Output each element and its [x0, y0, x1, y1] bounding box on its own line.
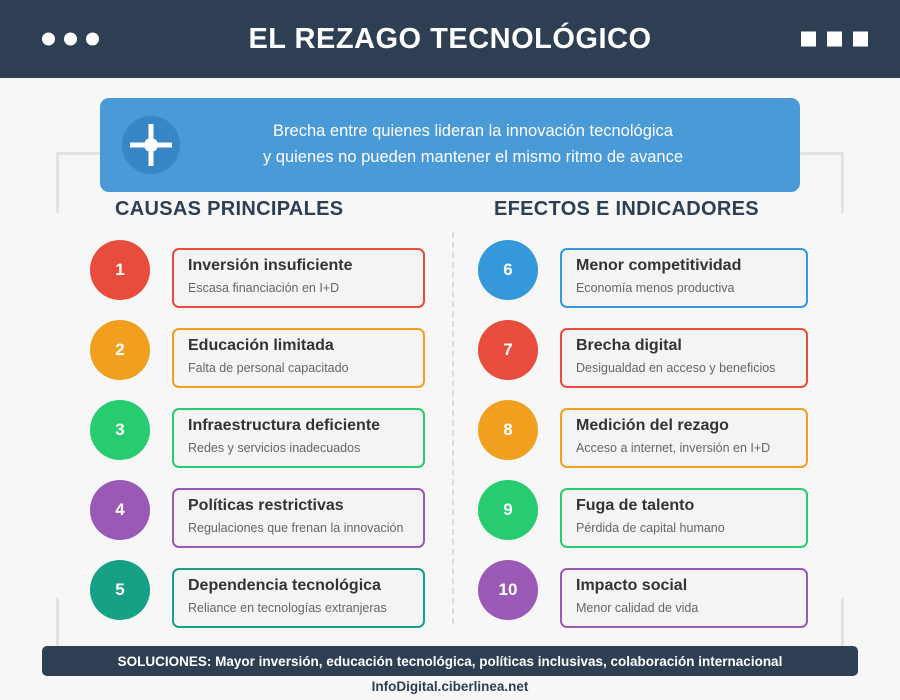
banner-text: Brecha entre quienes lideran la innovaci… [180, 119, 800, 170]
item-number: 3 [115, 420, 124, 440]
page-header: EL REZAGO TECNOLÓGICO [0, 0, 900, 78]
item-number: 9 [503, 500, 512, 520]
item-subtitle: Falta de personal capacitado [188, 360, 411, 376]
item-subtitle: Acceso a internet, inversión en I+D [576, 440, 794, 456]
header-square [827, 32, 842, 47]
item-card[interactable]: Menor competitividadEconomía menos produ… [560, 248, 808, 308]
header-dot [42, 33, 55, 46]
list-item[interactable]: 4Políticas restrictivasRegulaciones que … [90, 480, 435, 560]
list-item[interactable]: 6Menor competitividadEconomía menos prod… [478, 240, 818, 320]
list-item[interactable]: 3Infraestructura deficienteRedes y servi… [90, 400, 435, 480]
crosshair-target-icon [122, 116, 180, 174]
item-card[interactable]: Impacto socialMenor calidad de vida [560, 568, 808, 628]
list-item[interactable]: 10Impacto socialMenor calidad de vida [478, 560, 818, 640]
item-number: 1 [115, 260, 124, 280]
item-number: 4 [115, 500, 124, 520]
item-number-badge: 8 [478, 400, 538, 460]
item-number: 8 [503, 420, 512, 440]
item-title: Fuga de talento [576, 497, 794, 515]
item-subtitle: Desigualdad en acceso y beneficios [576, 360, 794, 376]
item-card[interactable]: Políticas restrictivasRegulaciones que f… [172, 488, 425, 548]
item-card[interactable]: Educación limitadaFalta de personal capa… [172, 328, 425, 388]
header-square [853, 32, 868, 47]
item-title: Políticas restrictivas [188, 497, 411, 515]
item-card[interactable]: Inversión insuficienteEscasa financiació… [172, 248, 425, 308]
list-item[interactable]: 5Dependencia tecnológicaReliance en tecn… [90, 560, 435, 640]
item-title: Inversión insuficiente [188, 257, 411, 275]
definition-banner: Brecha entre quienes lideran la innovaci… [100, 98, 800, 192]
item-subtitle: Regulaciones que frenan la innovación [188, 520, 411, 536]
list-item[interactable]: 1Inversión insuficienteEscasa financiaci… [90, 240, 435, 320]
header-square [801, 32, 816, 47]
item-subtitle: Pérdida de capital humano [576, 520, 794, 536]
item-number: 5 [115, 580, 124, 600]
item-card[interactable]: Fuga de talentoPérdida de capital humano [560, 488, 808, 548]
item-number-badge: 4 [90, 480, 150, 540]
item-title: Brecha digital [576, 337, 794, 355]
left-column-heading: CAUSAS PRINCIPALES [115, 198, 343, 221]
item-subtitle: Reliance en tecnologías extranjeras [188, 600, 411, 616]
item-card[interactable]: Dependencia tecnológicaReliance en tecno… [172, 568, 425, 628]
item-number: 2 [115, 340, 124, 360]
header-dot [86, 33, 99, 46]
item-number-badge: 10 [478, 560, 538, 620]
item-number-badge: 3 [90, 400, 150, 460]
list-item[interactable]: 7Brecha digitalDesigualdad en acceso y b… [478, 320, 818, 400]
causes-column: 1Inversión insuficienteEscasa financiaci… [90, 240, 435, 640]
item-card[interactable]: Infraestructura deficienteRedes y servic… [172, 408, 425, 468]
site-url: InfoDigital.ciberlinea.net [0, 679, 900, 694]
item-title: Dependencia tecnológica [188, 577, 411, 595]
item-number-badge: 9 [478, 480, 538, 540]
solutions-banner: SOLUCIONES: Mayor inversión, educación t… [42, 646, 858, 676]
item-number-badge: 6 [478, 240, 538, 300]
item-number-badge: 5 [90, 560, 150, 620]
item-card[interactable]: Medición del rezagoAcceso a internet, in… [560, 408, 808, 468]
item-number-badge: 2 [90, 320, 150, 380]
item-number: 6 [503, 260, 512, 280]
item-number-badge: 7 [478, 320, 538, 380]
item-number: 7 [503, 340, 512, 360]
item-title: Impacto social [576, 577, 794, 595]
header-dot [64, 33, 77, 46]
item-subtitle: Economía menos productiva [576, 280, 794, 296]
item-title: Medición del rezago [576, 417, 794, 435]
list-item[interactable]: 9Fuga de talentoPérdida de capital human… [478, 480, 818, 560]
effects-column: 6Menor competitividadEconomía menos prod… [478, 240, 818, 640]
item-title: Infraestructura deficiente [188, 417, 411, 435]
item-number: 10 [499, 580, 518, 600]
banner-line-2: y quienes no pueden mantener el mismo ri… [180, 145, 766, 171]
item-title: Educación limitada [188, 337, 411, 355]
list-item[interactable]: 8Medición del rezagoAcceso a internet, i… [478, 400, 818, 480]
item-title: Menor competitividad [576, 257, 794, 275]
item-subtitle: Redes y servicios inadecuados [188, 440, 411, 456]
right-column-heading: EFECTOS E INDICADORES [494, 198, 759, 221]
item-number-badge: 1 [90, 240, 150, 300]
header-dots-decoration [42, 33, 99, 46]
list-item[interactable]: 2Educación limitadaFalta de personal cap… [90, 320, 435, 400]
column-divider [452, 232, 454, 624]
banner-line-1: Brecha entre quienes lideran la innovaci… [180, 119, 766, 145]
item-subtitle: Escasa financiación en I+D [188, 280, 411, 296]
item-card[interactable]: Brecha digitalDesigualdad en acceso y be… [560, 328, 808, 388]
page-title: EL REZAGO TECNOLÓGICO [248, 23, 651, 56]
item-subtitle: Menor calidad de vida [576, 600, 794, 616]
header-squares-decoration [801, 32, 868, 47]
solutions-text: SOLUCIONES: Mayor inversión, educación t… [118, 654, 783, 669]
